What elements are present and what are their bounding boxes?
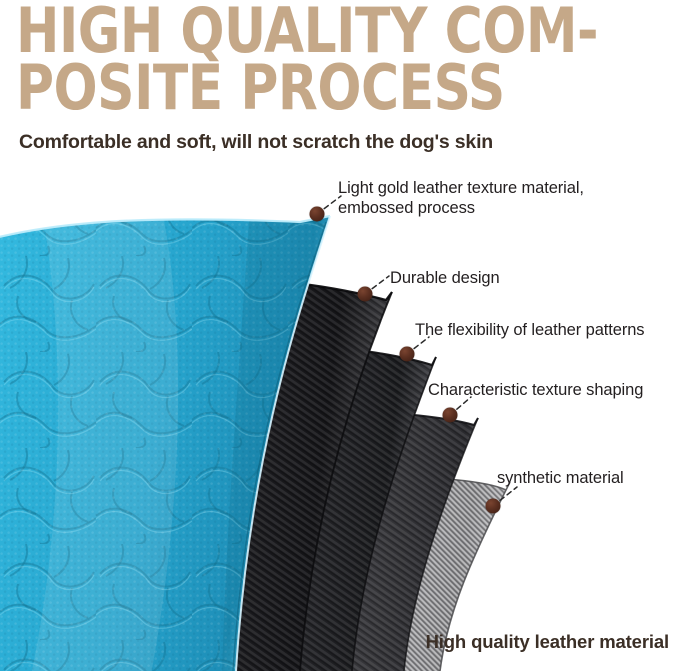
- callout-label-durable-design: Durable design: [390, 268, 500, 288]
- callout-dot-3: [400, 347, 415, 362]
- callout-dot-2: [358, 287, 373, 302]
- page-subtitle: Comfortable and soft, will not scratch t…: [19, 131, 493, 154]
- callout-dot-1: [310, 207, 325, 222]
- callout-label-synthetic-material: synthetic material: [497, 468, 624, 488]
- callout-label-characteristic-texture-shaping: Characteristic texture shaping: [428, 380, 643, 400]
- infographic-page: HIGH QUALITY COM- POSITE PROCESS Comfort…: [0, 0, 679, 671]
- callout-label-flexibility-leather-patterns: The flexibility of leather patterns: [415, 320, 644, 340]
- callout-label-light-gold-leather: Light gold leather texture material, emb…: [338, 178, 584, 218]
- bottom-caption: High quality leather material: [426, 631, 669, 653]
- callout-dot-5: [486, 499, 501, 514]
- page-title: HIGH QUALITY COM- POSITE PROCESS: [16, 2, 621, 116]
- callout-dot-4: [443, 408, 458, 423]
- layered-material-illustration: [0, 160, 560, 671]
